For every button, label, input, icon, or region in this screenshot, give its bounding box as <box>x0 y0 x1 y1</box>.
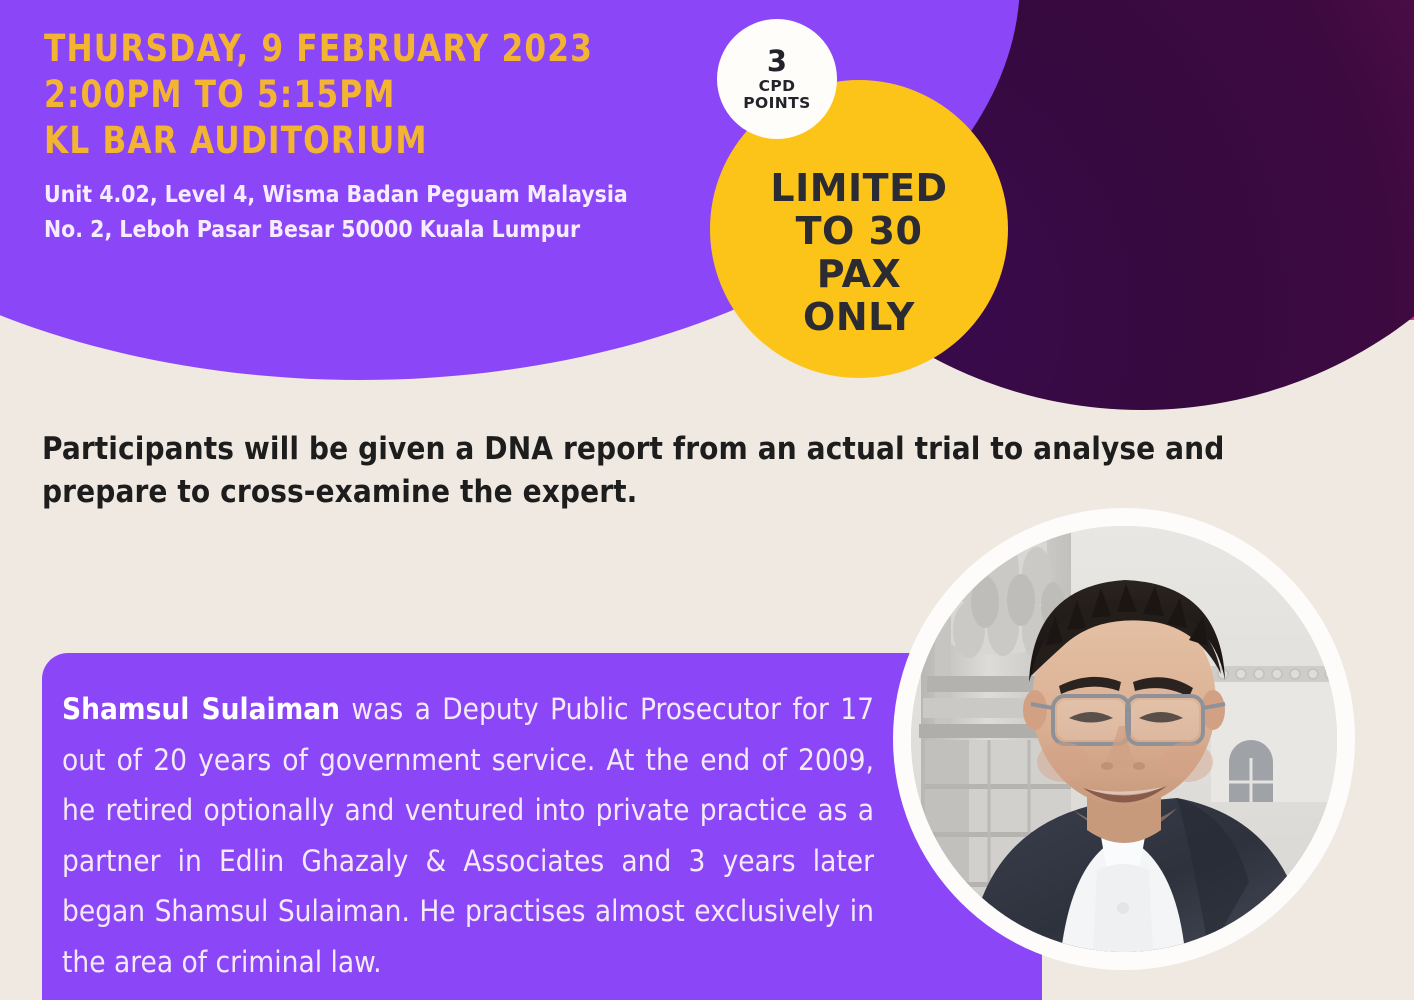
venue-address-line-2: No. 2, Leboh Pasar Besar 50000 Kuala Lum… <box>44 212 704 247</box>
event-venue: KL BAR AUDITORIUM <box>44 118 683 164</box>
speaker-photo-ring <box>893 508 1355 970</box>
cpd-label-line-2: POINTS <box>743 95 810 112</box>
cpd-points-badge: 3 CPD POINTS <box>717 19 837 139</box>
event-time: 2:00PM TO 5:15PM <box>44 72 683 118</box>
limited-line-2: TO 30 <box>770 210 947 253</box>
venue-address-line-1: Unit 4.02, Level 4, Wisma Badan Peguam M… <box>44 177 704 212</box>
cpd-label-line-1: CPD <box>743 78 810 95</box>
session-statement: Participants will be given a DNA report … <box>42 428 1299 514</box>
limited-line-3: PAX <box>770 253 947 296</box>
speaker-bio-text: Shamsul Sulaiman was a Deputy Public Pro… <box>62 684 874 987</box>
limited-pax-text: LIMITED TO 30 PAX ONLY <box>770 119 947 339</box>
event-date: THURSDAY, 9 FEBRUARY 2023 <box>44 26 683 72</box>
limited-line-4: ONLY <box>770 296 947 339</box>
limited-line-1: LIMITED <box>770 167 947 210</box>
cpd-points-label: CPD POINTS <box>743 78 810 112</box>
event-poster: THURSDAY, 9 FEBRUARY 2023 2:00PM TO 5:15… <box>0 0 1414 1000</box>
speaker-bio-body: was a Deputy Public Prosecutor for 17 ou… <box>62 692 874 979</box>
speaker-portrait-image <box>911 526 1337 952</box>
cpd-points-number: 3 <box>767 46 787 76</box>
speaker-name: Shamsul Sulaiman <box>62 692 340 726</box>
header-details: THURSDAY, 9 FEBRUARY 2023 2:00PM TO 5:15… <box>44 26 724 247</box>
